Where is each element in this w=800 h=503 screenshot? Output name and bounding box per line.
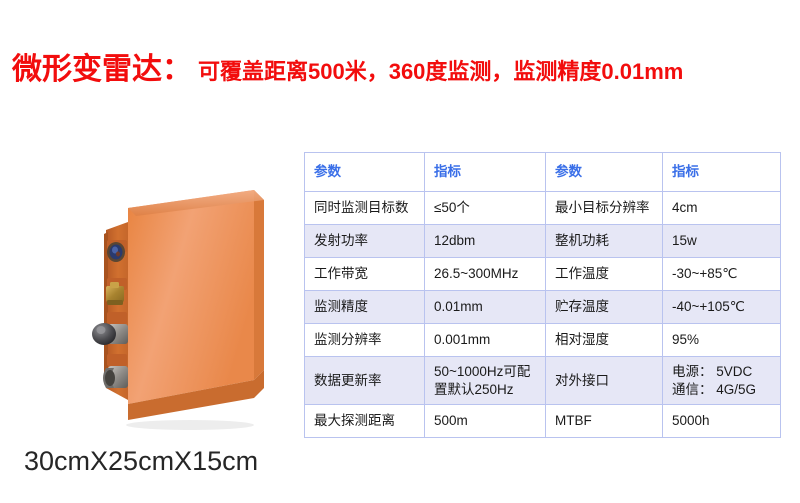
cell-value-line-2: 置默认250Hz bbox=[434, 381, 536, 399]
cell-value: 0.01mm bbox=[425, 291, 546, 324]
cell-param: 工作温度 bbox=[546, 258, 663, 291]
page-title: 微形变雷达： 可覆盖距离500米，360度监测，监测精度0.01mm bbox=[12, 44, 683, 88]
cell-value: 500m bbox=[425, 405, 546, 438]
table-row: 最大探测距离 500m MTBF 5000h bbox=[305, 405, 781, 438]
cell-value-line-1: 电源： 5VDC bbox=[672, 363, 771, 381]
cell-value: 15w bbox=[663, 225, 781, 258]
header-cell-param-2: 参数 bbox=[546, 153, 663, 192]
cell-value: 50~1000Hz可配 置默认250Hz bbox=[425, 357, 546, 405]
table-row: 数据更新率 50~1000Hz可配 置默认250Hz 对外接口 电源： 5VDC… bbox=[305, 357, 781, 405]
connector-port-1-icon bbox=[107, 242, 125, 262]
cell-param: 最小目标分辨率 bbox=[546, 192, 663, 225]
cell-value: 95% bbox=[663, 324, 781, 357]
header-cell-param-1: 参数 bbox=[305, 153, 425, 192]
title-subtitle-text: 可覆盖距离500米，360度监测，监测精度0.01mm bbox=[198, 54, 683, 86]
device-front-face bbox=[128, 190, 264, 420]
title-main-text: 微形变雷达： bbox=[12, 44, 192, 88]
cell-param: 最大探测距离 bbox=[305, 405, 425, 438]
connector-port-4-icon bbox=[103, 366, 128, 388]
cell-param: 相对湿度 bbox=[546, 324, 663, 357]
cell-value: 电源： 5VDC 通信： 4G/5G bbox=[663, 357, 781, 405]
cell-value: 4cm bbox=[663, 192, 781, 225]
table-row: 同时监测目标数 ≤50个 最小目标分辨率 4cm bbox=[305, 192, 781, 225]
cell-param: 监测精度 bbox=[305, 291, 425, 324]
cell-param: 同时监测目标数 bbox=[305, 192, 425, 225]
radar-device-illustration bbox=[78, 182, 302, 434]
cell-param: 对外接口 bbox=[546, 357, 663, 405]
cell-value: -30~+85℃ bbox=[663, 258, 781, 291]
table-row: 工作带宽 26.5~300MHz 工作温度 -30~+85℃ bbox=[305, 258, 781, 291]
cell-param: 贮存温度 bbox=[546, 291, 663, 324]
header-cell-value-2: 指标 bbox=[663, 153, 781, 192]
table-header-row: 参数 指标 参数 指标 bbox=[305, 153, 781, 192]
cell-value: 5000h bbox=[663, 405, 781, 438]
table-row: 监测精度 0.01mm 贮存温度 -40~+105℃ bbox=[305, 291, 781, 324]
device-dimension-caption: 30cmX25cmX15cm bbox=[24, 446, 258, 477]
table-row: 发射功率 12dbm 整机功耗 15w bbox=[305, 225, 781, 258]
cell-param: 发射功率 bbox=[305, 225, 425, 258]
connector-port-3-icon bbox=[92, 323, 128, 345]
cell-param: 工作带宽 bbox=[305, 258, 425, 291]
cell-value: 12dbm bbox=[425, 225, 546, 258]
cell-value-line-1: 50~1000Hz可配 bbox=[434, 363, 536, 381]
table-row: 监测分辨率 0.001mm 相对湿度 95% bbox=[305, 324, 781, 357]
spec-table-container: 参数 指标 参数 指标 同时监测目标数 ≤50个 最小目标分辨率 4cm 发射功… bbox=[304, 152, 780, 438]
cell-param: 整机功耗 bbox=[546, 225, 663, 258]
cell-value-line-2: 通信： 4G/5G bbox=[672, 381, 771, 399]
cell-param: 数据更新率 bbox=[305, 357, 425, 405]
cell-value: -40~+105℃ bbox=[663, 291, 781, 324]
radar-device-image bbox=[78, 182, 302, 434]
cell-value: ≤50个 bbox=[425, 192, 546, 225]
cell-param: 监测分辨率 bbox=[305, 324, 425, 357]
header-cell-value-1: 指标 bbox=[425, 153, 546, 192]
cell-value: 26.5~300MHz bbox=[425, 258, 546, 291]
cell-value: 0.001mm bbox=[425, 324, 546, 357]
cell-param: MTBF bbox=[546, 405, 663, 438]
specification-table: 参数 指标 参数 指标 同时监测目标数 ≤50个 最小目标分辨率 4cm 发射功… bbox=[304, 152, 781, 438]
